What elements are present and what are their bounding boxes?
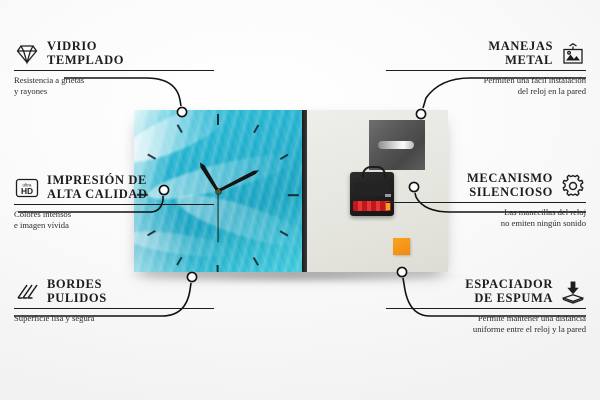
feature-divider	[386, 202, 586, 203]
feature-header: VIDRIO TEMPLADO	[14, 40, 214, 67]
feature-description: Superficie lisa y segura	[14, 313, 214, 324]
feature-title: IMPRESIÓN DE ALTA CALIDAD	[47, 174, 148, 201]
feature-header: BORDES PULIDOS	[14, 278, 214, 305]
feature-bordes-pulidos: BORDES PULIDOS Superficie lisa y segura	[14, 278, 214, 324]
hanger-slot	[378, 141, 414, 149]
feature-divider	[386, 308, 586, 309]
feature-divider	[14, 70, 214, 71]
feature-header: MANEJAS METAL	[386, 40, 586, 67]
feature-title: VIDRIO TEMPLADO	[47, 40, 124, 67]
feature-description: Las manecillas del reloj no emiten ningú…	[386, 207, 586, 228]
movement-hook	[362, 166, 386, 178]
feature-description: Permiten una fácil instalación del reloj…	[386, 75, 586, 96]
feature-header: ESPACIADOR DE ESPUMA	[386, 278, 586, 305]
feature-manejas-metal: MANEJAS METAL Permiten una fácil instala…	[386, 40, 586, 97]
polished-edges-icon	[14, 279, 40, 305]
diamond-icon	[14, 41, 40, 67]
feature-mecanismo-silencioso: MECANISMO SILENCIOSO Las manecillas del …	[386, 172, 586, 229]
clock-second-hand	[217, 191, 218, 243]
picture-frame-icon	[560, 41, 586, 67]
feature-divider	[14, 204, 214, 205]
feature-title: MECANISMO SILENCIOSO	[467, 172, 553, 199]
feature-impresion-alta-calidad: ultra HD IMPRESIÓN DE ALTA CALIDAD Color…	[14, 174, 214, 231]
metal-hanger-plate	[369, 120, 425, 170]
feature-description: Permite mantener una distancia uniforme …	[386, 313, 586, 334]
feature-description: Colores intensos e imagen vívida	[14, 209, 214, 230]
gear-icon	[560, 173, 586, 199]
feature-divider	[14, 308, 214, 309]
foam-spacer-icon	[560, 279, 586, 305]
feature-vidrio-templado: VIDRIO TEMPLADO Resistencia a grietas y …	[14, 40, 214, 97]
feature-title: BORDES PULIDOS	[47, 278, 107, 305]
feature-description: Resistencia a grietas y rayones	[14, 75, 214, 96]
clock-pivot	[216, 189, 221, 194]
feature-divider	[386, 70, 586, 71]
ultra-hd-icon: ultra HD	[14, 175, 40, 201]
foam-spacer	[393, 238, 410, 255]
feature-title: MANEJAS METAL	[488, 40, 553, 67]
feature-header: MECANISMO SILENCIOSO	[386, 172, 586, 199]
feature-espaciador-espuma: ESPACIADOR DE ESPUMA Permite mantener un…	[386, 278, 586, 335]
feature-header: ultra HD IMPRESIÓN DE ALTA CALIDAD	[14, 174, 214, 201]
svg-text:HD: HD	[21, 186, 33, 196]
infographic-canvas: VIDRIO TEMPLADO Resistencia a grietas y …	[0, 0, 600, 400]
feature-title: ESPACIADOR DE ESPUMA	[465, 278, 553, 305]
